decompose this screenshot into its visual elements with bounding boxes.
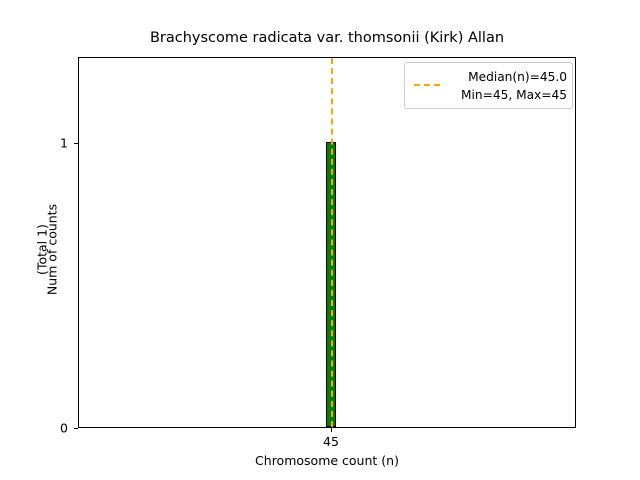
legend-entry-median: Median(n)=45.0 Min=45, Max=45 — [405, 63, 572, 108]
chart-title: Brachyscome radicata var. thomsonii (Kir… — [78, 30, 576, 46]
y-tick-mark-0 — [74, 428, 78, 429]
median-reference-line — [331, 58, 333, 427]
legend-dashed-line-swatch — [414, 84, 440, 86]
y-tick-label-1: 1 — [60, 136, 68, 151]
y-axis-label-total: (Total 1) — [35, 165, 50, 335]
legend-entry-label: Median(n)=45.0 Min=45, Max=45 — [445, 68, 567, 104]
x-axis-label: Chromosome count (n) — [78, 453, 576, 468]
plot-axes-frame — [78, 57, 576, 428]
plot-area — [79, 58, 575, 427]
chart-legend: Median(n)=45.0 Min=45, Max=45 — [404, 62, 573, 109]
legend-minmax-text: Min=45, Max=45 — [461, 88, 567, 102]
x-tick-mark-45 — [331, 428, 332, 432]
y-tick-label-0: 0 — [60, 421, 68, 436]
chart-figure: Brachyscome radicata var. thomsonii (Kir… — [0, 0, 640, 480]
x-tick-label-45: 45 — [323, 434, 339, 449]
y-tick-mark-1 — [74, 143, 78, 144]
legend-median-text: Median(n)=45.0 — [468, 70, 567, 84]
